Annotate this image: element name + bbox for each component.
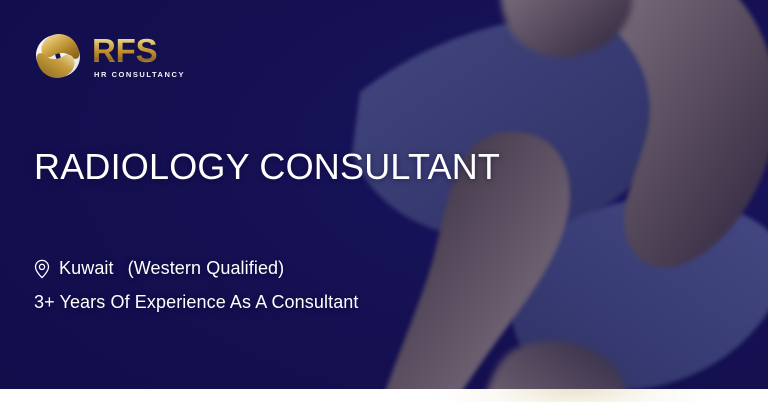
rfs-pinwheel-logo-mark-icon — [30, 28, 86, 84]
job-location-name: Kuwait — [59, 258, 114, 279]
rfs-logo[interactable]: RFS HR CONSULTANCY — [30, 28, 185, 84]
rfs-logo-text: RFS HR CONSULTANCY — [92, 33, 185, 78]
rfs-wordmark: RFS — [92, 35, 157, 66]
pinwheel-background-artwork — [330, 0, 768, 389]
job-meta: Kuwait (Western Qualified) 3+ Years Of E… — [34, 258, 504, 313]
map-pin-icon — [34, 259, 50, 279]
rfs-tagline: HR CONSULTANCY — [94, 70, 185, 79]
job-qualification: (Western Qualified) — [128, 258, 285, 279]
job-location-row: Kuwait (Western Qualified) — [34, 258, 504, 279]
job-title: RADIOLOGY CONSULTANT — [34, 146, 474, 188]
job-experience-row: 3+ Years Of Experience As A Consultant — [34, 292, 504, 313]
job-experience-text: 3+ Years Of Experience As A Consultant — [34, 292, 359, 313]
job-advert-banner: RFS HR CONSULTANCY RADIOLOGY CONSULTANT … — [0, 0, 768, 402]
bottom-white-strip — [0, 389, 768, 402]
bottom-cream-glow — [430, 389, 720, 402]
